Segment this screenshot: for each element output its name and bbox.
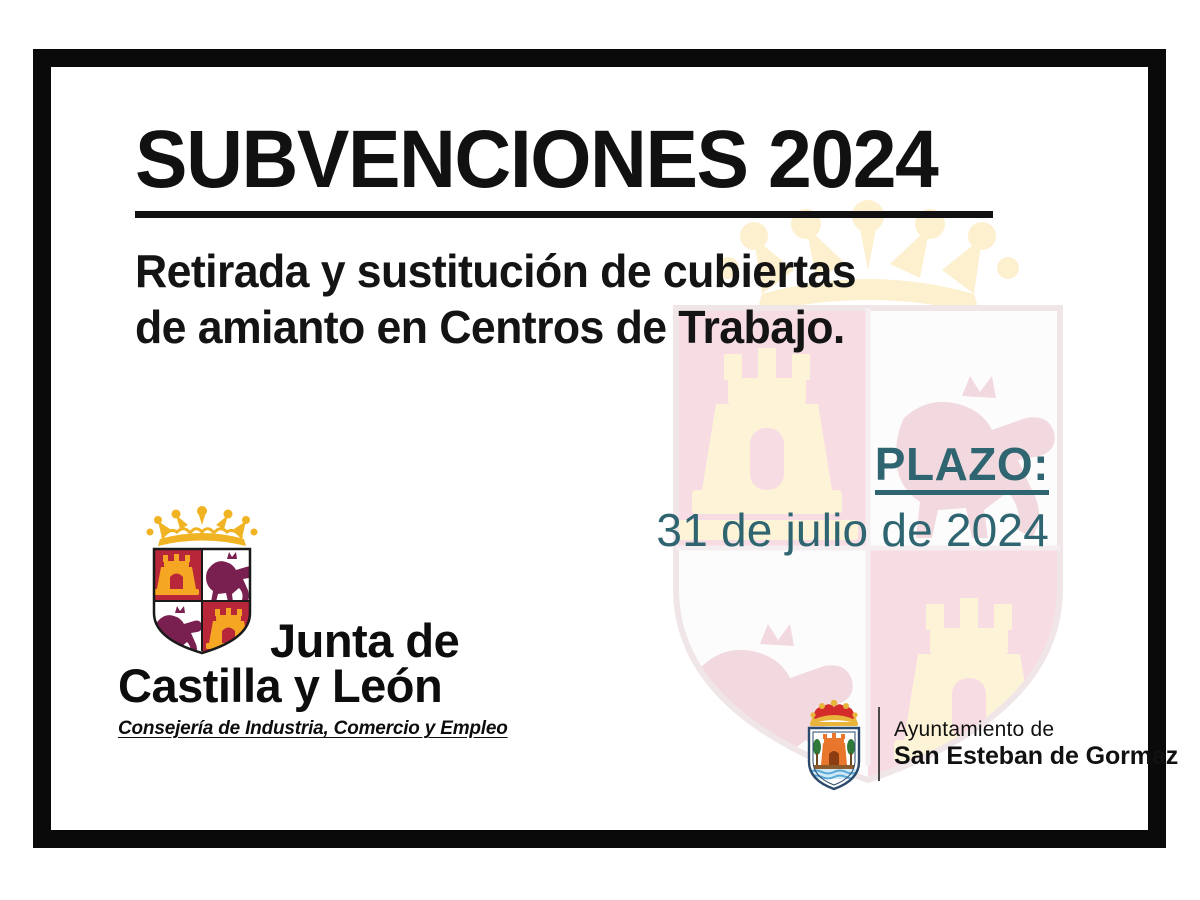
subtitle-line-1: Retirada y sustitución de cubiertas (135, 243, 1008, 299)
page-title: SUBVENCIONES 2024 (135, 118, 989, 202)
junta-name-line-2: Castilla y León (118, 661, 538, 710)
royal-crown-icon (810, 700, 858, 726)
headline-underline (135, 211, 993, 218)
deadline-block: PLAZO: 31 de julio de 2024 (656, 440, 1049, 556)
gold-crown-icon (147, 506, 258, 546)
junta-castilla-leon-logo: Junta de Castilla y León Consejería de I… (118, 505, 538, 740)
ayuntamiento-logo: Ayuntamiento de San Esteban de Gormaz (796, 694, 1178, 794)
san-esteban-de-gormaz-coat-of-arms-icon (796, 694, 872, 794)
deadline-label: PLAZO: (875, 440, 1049, 495)
subtitle-line-2: de amianto en Centros de Trabajo. (135, 299, 1008, 355)
junta-name-line-1: Junta de (270, 617, 459, 664)
poster-canvas: SUBVENCIONES 2024 Retirada y sustitución… (0, 0, 1200, 900)
ayuntamiento-line-1: Ayuntamiento de (894, 718, 1178, 741)
headline-block: SUBVENCIONES 2024 (135, 118, 1025, 218)
castilla-leon-coat-of-arms-icon (140, 505, 264, 657)
ayuntamiento-line-2: San Esteban de Gormaz (894, 743, 1178, 771)
logo-divider (878, 707, 880, 781)
junta-department-label: Consejería de Industria, Comercio y Empl… (118, 718, 538, 740)
subtitle-block: Retirada y sustitución de cubiertas de a… (135, 243, 1008, 355)
deadline-date: 31 de julio de 2024 (656, 505, 1049, 556)
